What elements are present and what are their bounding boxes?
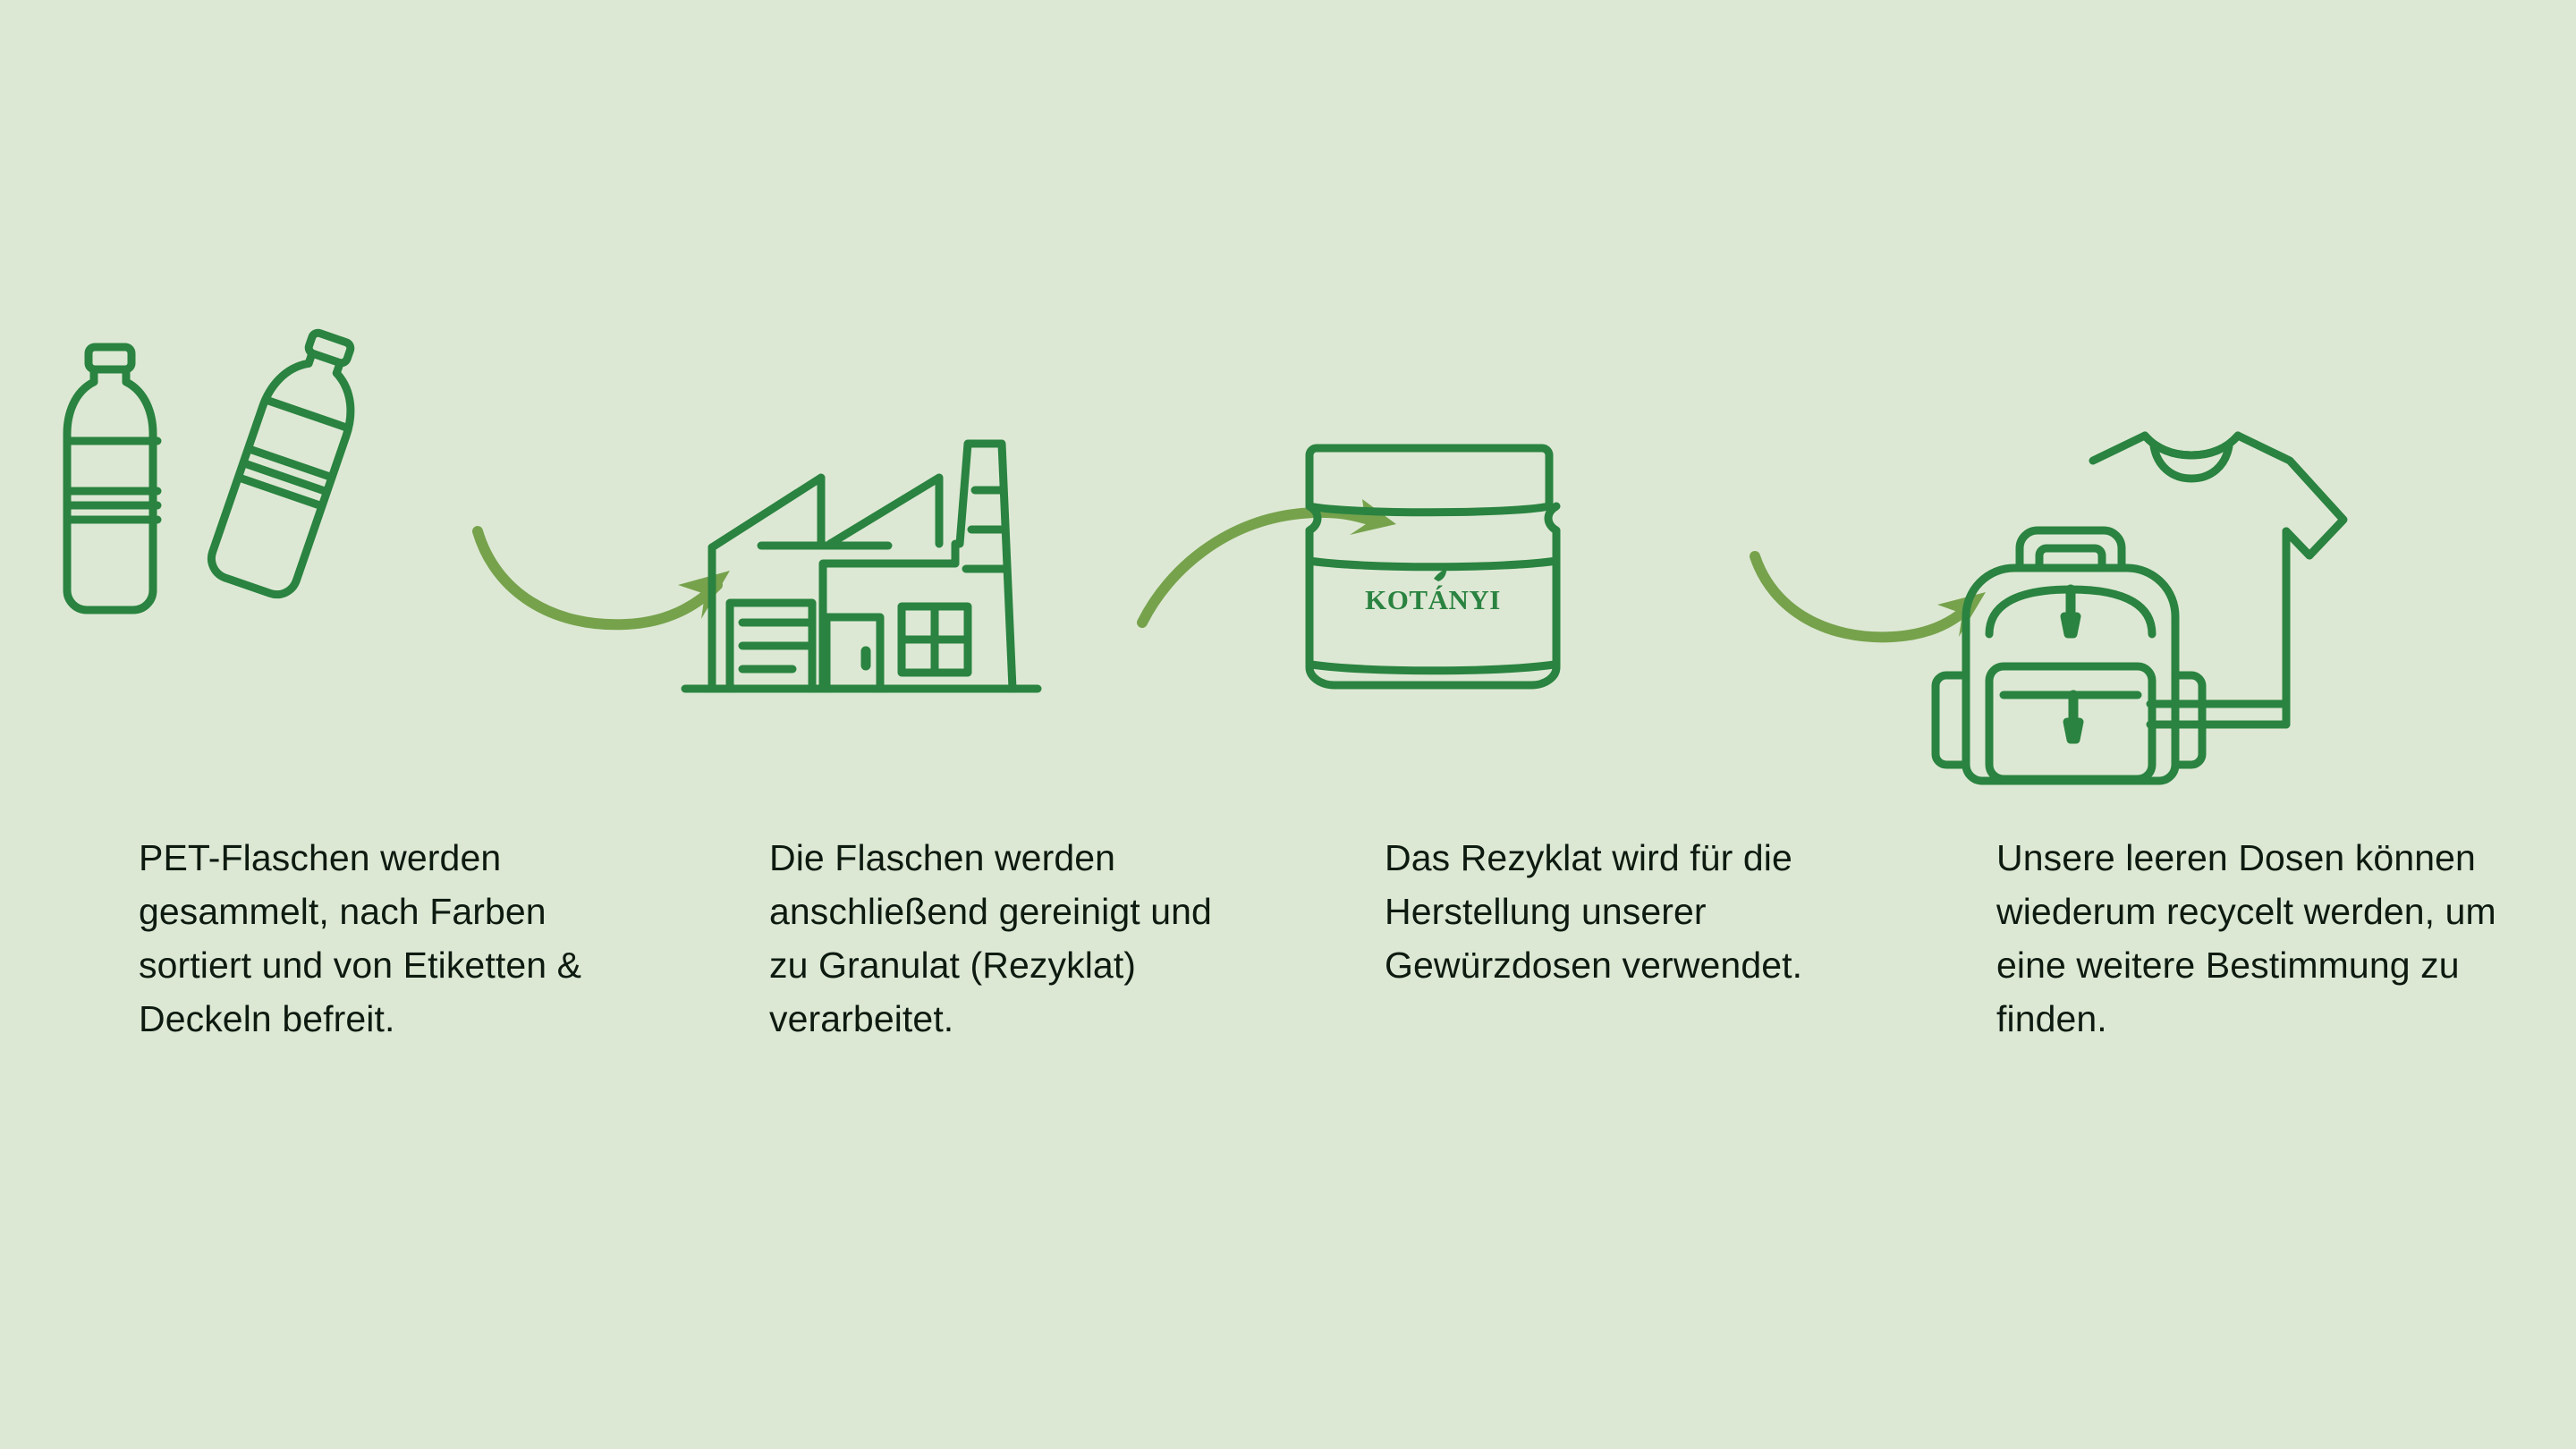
- step-2-caption: Die Flaschen werden anschließend gereini…: [769, 832, 1234, 1046]
- step-1: PET-Flaschen werden gesammelt, nach Farb…: [54, 0, 671, 1449]
- step-3: KOTÁNYI Das Rezyklat wird für die Herste…: [1297, 0, 1914, 1449]
- step-4: Unsere leeren Dosen können wiederum recy…: [1914, 0, 2531, 1449]
- step-2: Die Flaschen werden anschließend gereini…: [680, 0, 1297, 1449]
- kotanyi-wordmark: KOTÁNYI: [1365, 584, 1501, 615]
- backpack-tshirt-icon: [1914, 322, 2451, 769]
- kotanyi-logo: KOTÁNYI: [1365, 568, 1501, 615]
- step-4-caption: Unsere leeren Dosen können wiederum recy…: [1996, 832, 2497, 1046]
- step-3-caption: Das Rezyklat wird für die Herstellung un…: [1385, 832, 1850, 993]
- step-1-caption: PET-Flaschen werden gesammelt, nach Farb…: [139, 832, 604, 1046]
- recycling-infographic: PET-Flaschen werden gesammelt, nach Farb…: [0, 0, 2576, 1449]
